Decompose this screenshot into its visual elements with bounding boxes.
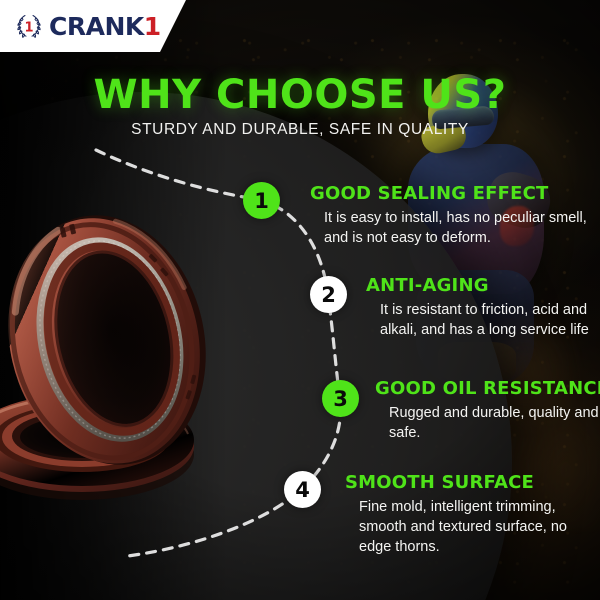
feature-1-heading: GOOD SEALING EFFECT xyxy=(310,183,600,204)
brand-name-main: CRANK xyxy=(49,12,144,41)
brand-banner[interactable]: 1 CRANK1 xyxy=(0,0,186,52)
feature-item-3: GOOD OIL RESISTANCE Rugged and durable, … xyxy=(375,378,600,443)
feature-2-body: It is resistant to friction, acid and al… xyxy=(366,300,600,340)
feature-badge-2-number: 2 xyxy=(321,283,336,307)
feature-4-body: Fine mold, intelligent trimming, smooth … xyxy=(345,497,600,557)
feature-badge-3[interactable]: 3 xyxy=(322,380,359,417)
promo-poster: 1 CRANK1 WHY CHOOSE US? STURDY AND DURAB… xyxy=(0,0,600,600)
brand-name-accent: 1 xyxy=(144,12,161,41)
brand-wordmark: CRANK1 xyxy=(49,14,161,39)
feature-3-body: Rugged and durable, quality and safe. xyxy=(375,403,600,443)
feature-2-heading: ANTI-AGING xyxy=(366,275,600,296)
feature-item-4: SMOOTH SURFACE Fine mold, intelligent tr… xyxy=(345,472,600,557)
page-title: WHY CHOOSE US? xyxy=(0,72,600,118)
feature-4-heading: SMOOTH SURFACE xyxy=(345,472,600,493)
feature-badge-1-number: 1 xyxy=(254,189,269,213)
page-subtitle: STURDY AND DURABLE, SAFE IN QUALITY xyxy=(0,121,600,139)
feature-1-body: It is easy to install, has no peculiar s… xyxy=(310,208,600,248)
oil-seal-product-image xyxy=(0,190,280,520)
feature-3-heading: GOOD OIL RESISTANCE xyxy=(375,378,600,399)
feature-badge-3-number: 3 xyxy=(333,387,348,411)
feature-badge-2[interactable]: 2 xyxy=(310,276,347,313)
feature-item-1: GOOD SEALING EFFECT It is easy to instal… xyxy=(310,183,600,248)
feature-item-2: ANTI-AGING It is resistant to friction, … xyxy=(366,275,600,340)
feature-badge-4-number: 4 xyxy=(295,478,310,502)
laurel-wreath-icon: 1 xyxy=(14,11,44,41)
feature-badge-4[interactable]: 4 xyxy=(284,471,321,508)
svg-text:1: 1 xyxy=(24,21,33,36)
feature-badge-1[interactable]: 1 xyxy=(243,182,280,219)
